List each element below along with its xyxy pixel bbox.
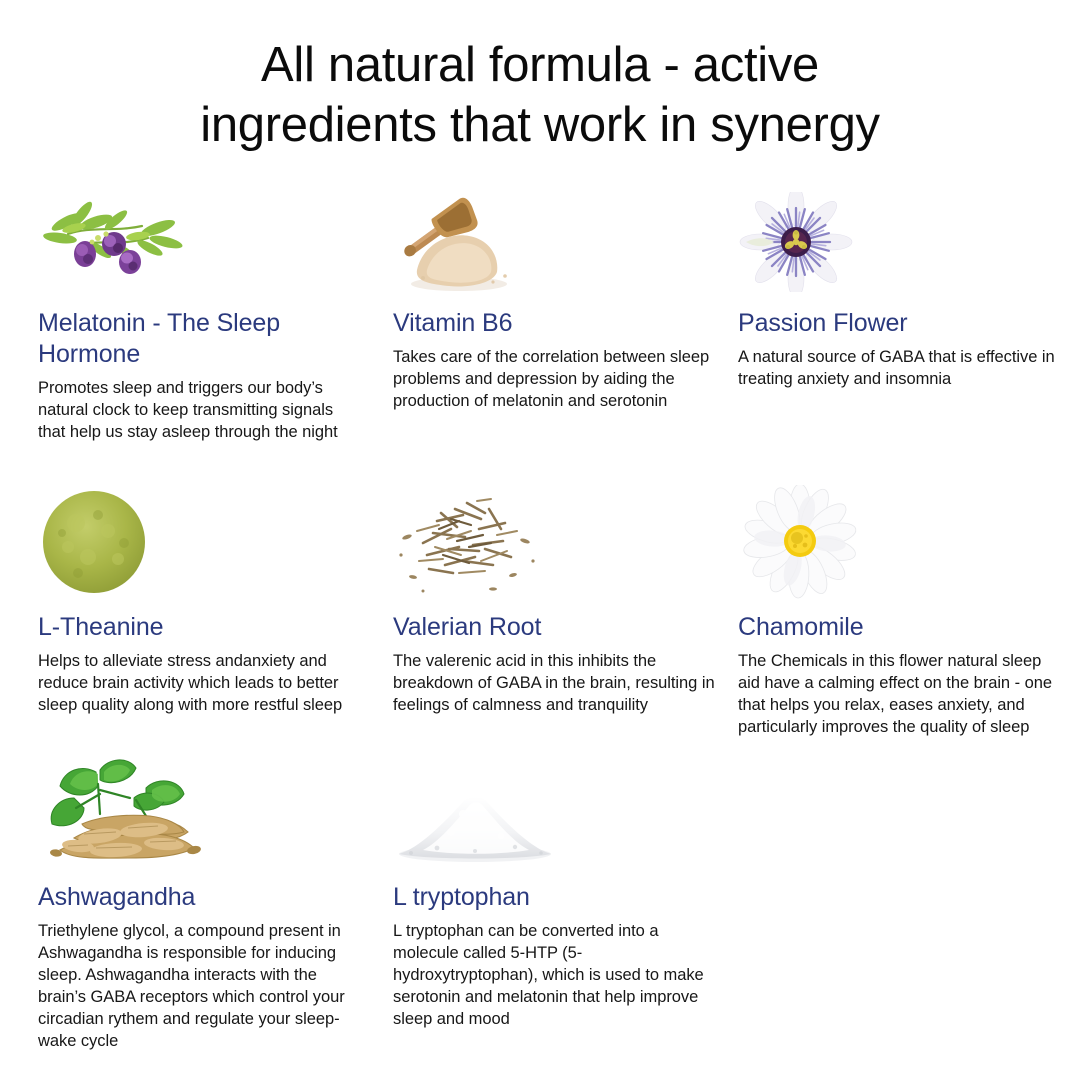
page-title-line-2: ingredients that work in synergy	[50, 96, 1030, 156]
ingredient-title: Vitamin B6	[393, 308, 723, 339]
ingredient-description: Promotes sleep and triggers our body’s n…	[38, 378, 360, 444]
ingredient-card-l-theanine: L-Theanine Helps to alleviate stress and…	[38, 482, 360, 717]
powder-scoop-icon	[393, 192, 533, 292]
ingredient-title: Ashwagandha	[38, 882, 360, 913]
ingredient-title: Valerian Root	[393, 612, 723, 643]
ingredient-card-ashwagandha: Ashwagandha Triethylene glycol, a compou…	[38, 754, 360, 1053]
ingredients-row-1: Melatonin - The Sleep Hormone Promotes s…	[0, 192, 1080, 482]
ingredient-title: Melatonin - The Sleep Hormone	[38, 308, 360, 370]
ingredient-title: L-Theanine	[38, 612, 360, 643]
ashwagandha-root-image	[38, 754, 360, 872]
ingredient-card-l-tryptophan: L tryptophan L tryptophan can be convert…	[393, 754, 723, 1031]
ingredient-description: Takes care of the correlation between sl…	[393, 347, 723, 413]
ingredient-title: Passion Flower	[738, 308, 1056, 339]
alfalfa-sprig-image	[38, 192, 360, 292]
ingredients-row-2: L-Theanine Helps to alleviate stress and…	[0, 482, 1080, 754]
ashwagandha-root-icon	[38, 754, 213, 872]
alfalfa-sprig-icon	[38, 192, 188, 292]
dried-valerian-root-icon	[393, 485, 543, 600]
ingredient-card-melatonin: Melatonin - The Sleep Hormone Promotes s…	[38, 192, 360, 444]
ingredients-infographic: All natural formula - active ingredients…	[0, 0, 1080, 1080]
ingredient-title: L tryptophan	[393, 882, 723, 913]
ingredient-description: L tryptophan can be converted into a mol…	[393, 921, 723, 1031]
ingredients-row-3: Ashwagandha Triethylene glycol, a compou…	[0, 754, 1080, 1054]
ingredient-card-vitamin-b6: Vitamin B6 Takes care of the correlation…	[393, 192, 723, 413]
dried-valerian-root-image	[393, 482, 723, 600]
green-powder-image	[38, 482, 360, 600]
page-title: All natural formula - active ingredients…	[50, 36, 1030, 156]
ingredient-description: The Chemicals in this flower natural sle…	[738, 651, 1056, 739]
chamomile-flower-image	[738, 482, 1056, 600]
ingredient-description: A natural source of GABA that is effecti…	[738, 347, 1056, 391]
passion-flower-image	[738, 192, 1056, 292]
passion-flower-icon	[738, 192, 858, 292]
ingredient-description: The valerenic acid in this inhibits the …	[393, 651, 723, 717]
ingredient-description: Triethylene glycol, a compound present i…	[38, 921, 360, 1053]
white-powder-mound-image	[393, 754, 723, 872]
ingredient-title: Chamomile	[738, 612, 1056, 643]
chamomile-flower-icon	[738, 485, 868, 600]
green-powder-icon	[38, 485, 158, 600]
white-powder-mound-icon	[393, 754, 558, 872]
ingredient-card-chamomile: Chamomile The Chemicals in this flower n…	[738, 482, 1056, 739]
powder-scoop-image	[393, 192, 723, 292]
page-title-line-1: All natural formula - active	[50, 36, 1030, 96]
ingredient-card-passion-flower: Passion Flower A natural source of GABA …	[738, 192, 1056, 391]
ingredient-description: Helps to alleviate stress andanxiety and…	[38, 651, 360, 717]
ingredient-card-valerian-root: Valerian Root The valerenic acid in this…	[393, 482, 723, 717]
ingredients-grid: Melatonin - The Sleep Hormone Promotes s…	[0, 192, 1080, 1054]
